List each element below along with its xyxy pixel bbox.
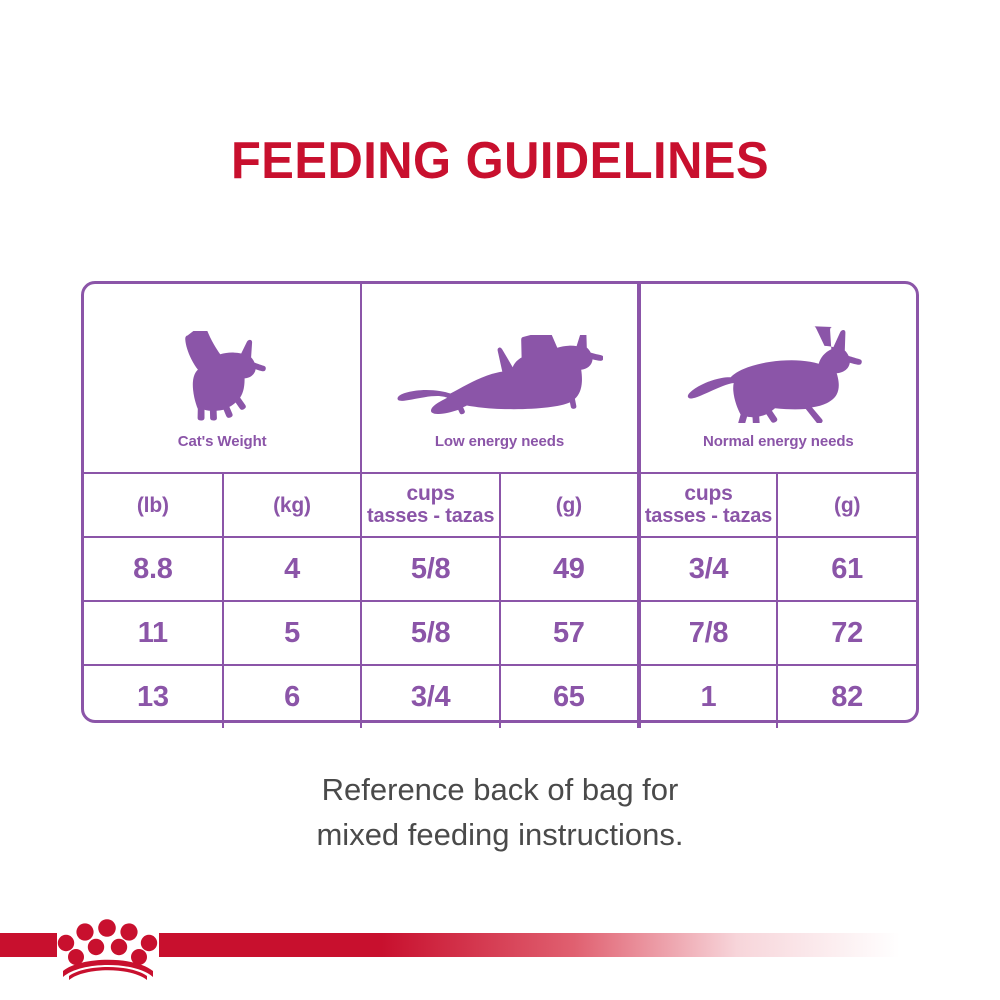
cell-low-grams: 57: [500, 601, 639, 665]
table-row: 13 6 3/4 65 1 82: [84, 665, 916, 728]
header-label-normal-energy: Normal energy needs: [703, 433, 854, 450]
brand-bar-right-segment: [159, 933, 900, 957]
unit-cell-normal-g: (g): [777, 473, 916, 537]
cell-low-cups: 3/4: [361, 665, 500, 728]
unit-cell-normal-cups: cups tasses - tazas: [639, 473, 778, 537]
feeding-note: Reference back of bag for mixed feeding …: [0, 767, 1000, 857]
cell-weight-lb: 8.8: [84, 537, 223, 601]
header-cell-normal-energy: Normal energy needs: [639, 284, 916, 473]
cell-normal-grams: 72: [777, 601, 916, 665]
walking-cat-icon: [680, 325, 876, 423]
cell-weight-kg: 6: [223, 665, 362, 728]
unit-sublabel-low-cups: tasses - tazas: [362, 505, 499, 528]
unit-label-low-cups: cups: [362, 482, 499, 505]
unit-cell-low-cups: cups tasses - tazas: [361, 473, 500, 537]
unit-label-kg: (kg): [224, 494, 361, 517]
unit-label-low-g: (g): [501, 494, 637, 517]
royal-canin-crown-logo: [55, 909, 161, 981]
brand-bar-left-segment: [0, 933, 57, 957]
header-label-cats-weight: Cat's Weight: [178, 433, 267, 450]
unit-label-normal-cups: cups: [641, 482, 777, 505]
table-row: 8.8 4 5/8 49 3/4 61: [84, 537, 916, 601]
unit-cell-lb: (lb): [84, 473, 223, 537]
cell-low-grams: 49: [500, 537, 639, 601]
header-cell-cats-weight: Cat's Weight: [84, 284, 361, 473]
cell-weight-lb: 13: [84, 665, 223, 728]
page-title: FEEDING GUIDELINES: [30, 131, 970, 191]
cell-weight-lb: 11: [84, 601, 223, 665]
header-cell-low-energy: Low energy needs: [361, 284, 638, 473]
cell-normal-cups: 1: [639, 665, 778, 728]
feeding-note-line-1: Reference back of bag for: [0, 767, 1000, 812]
table-row: 11 5 5/8 57 7/8 72: [84, 601, 916, 665]
table-units-row: (lb) (kg) cups tasses - tazas (g) cups t…: [84, 473, 916, 537]
cell-normal-cups: 3/4: [639, 537, 778, 601]
cell-low-cups: 5/8: [361, 537, 500, 601]
table-header-row: Cat's Weight Low energy needs: [84, 284, 916, 473]
cell-weight-kg: 5: [223, 601, 362, 665]
brand-bar: [0, 933, 1000, 957]
feeding-note-line-2: mixed feeding instructions.: [0, 812, 1000, 857]
unit-sublabel-normal-cups: tasses - tazas: [641, 505, 777, 528]
cell-low-grams: 65: [500, 665, 639, 728]
unit-cell-low-g: (g): [500, 473, 639, 537]
cell-weight-kg: 4: [223, 537, 362, 601]
cell-normal-cups: 7/8: [639, 601, 778, 665]
unit-cell-kg: (kg): [223, 473, 362, 537]
cell-normal-grams: 82: [777, 665, 916, 728]
standing-kitten-icon: [163, 331, 281, 423]
cell-normal-grams: 61: [777, 537, 916, 601]
unit-label-normal-g: (g): [778, 494, 916, 517]
unit-label-lb: (lb): [84, 494, 222, 517]
cell-low-cups: 5/8: [361, 601, 500, 665]
feeding-guidelines-table: Cat's Weight Low energy needs: [81, 281, 919, 723]
lying-cat-icon: [395, 335, 603, 423]
header-label-low-energy: Low energy needs: [435, 433, 564, 450]
